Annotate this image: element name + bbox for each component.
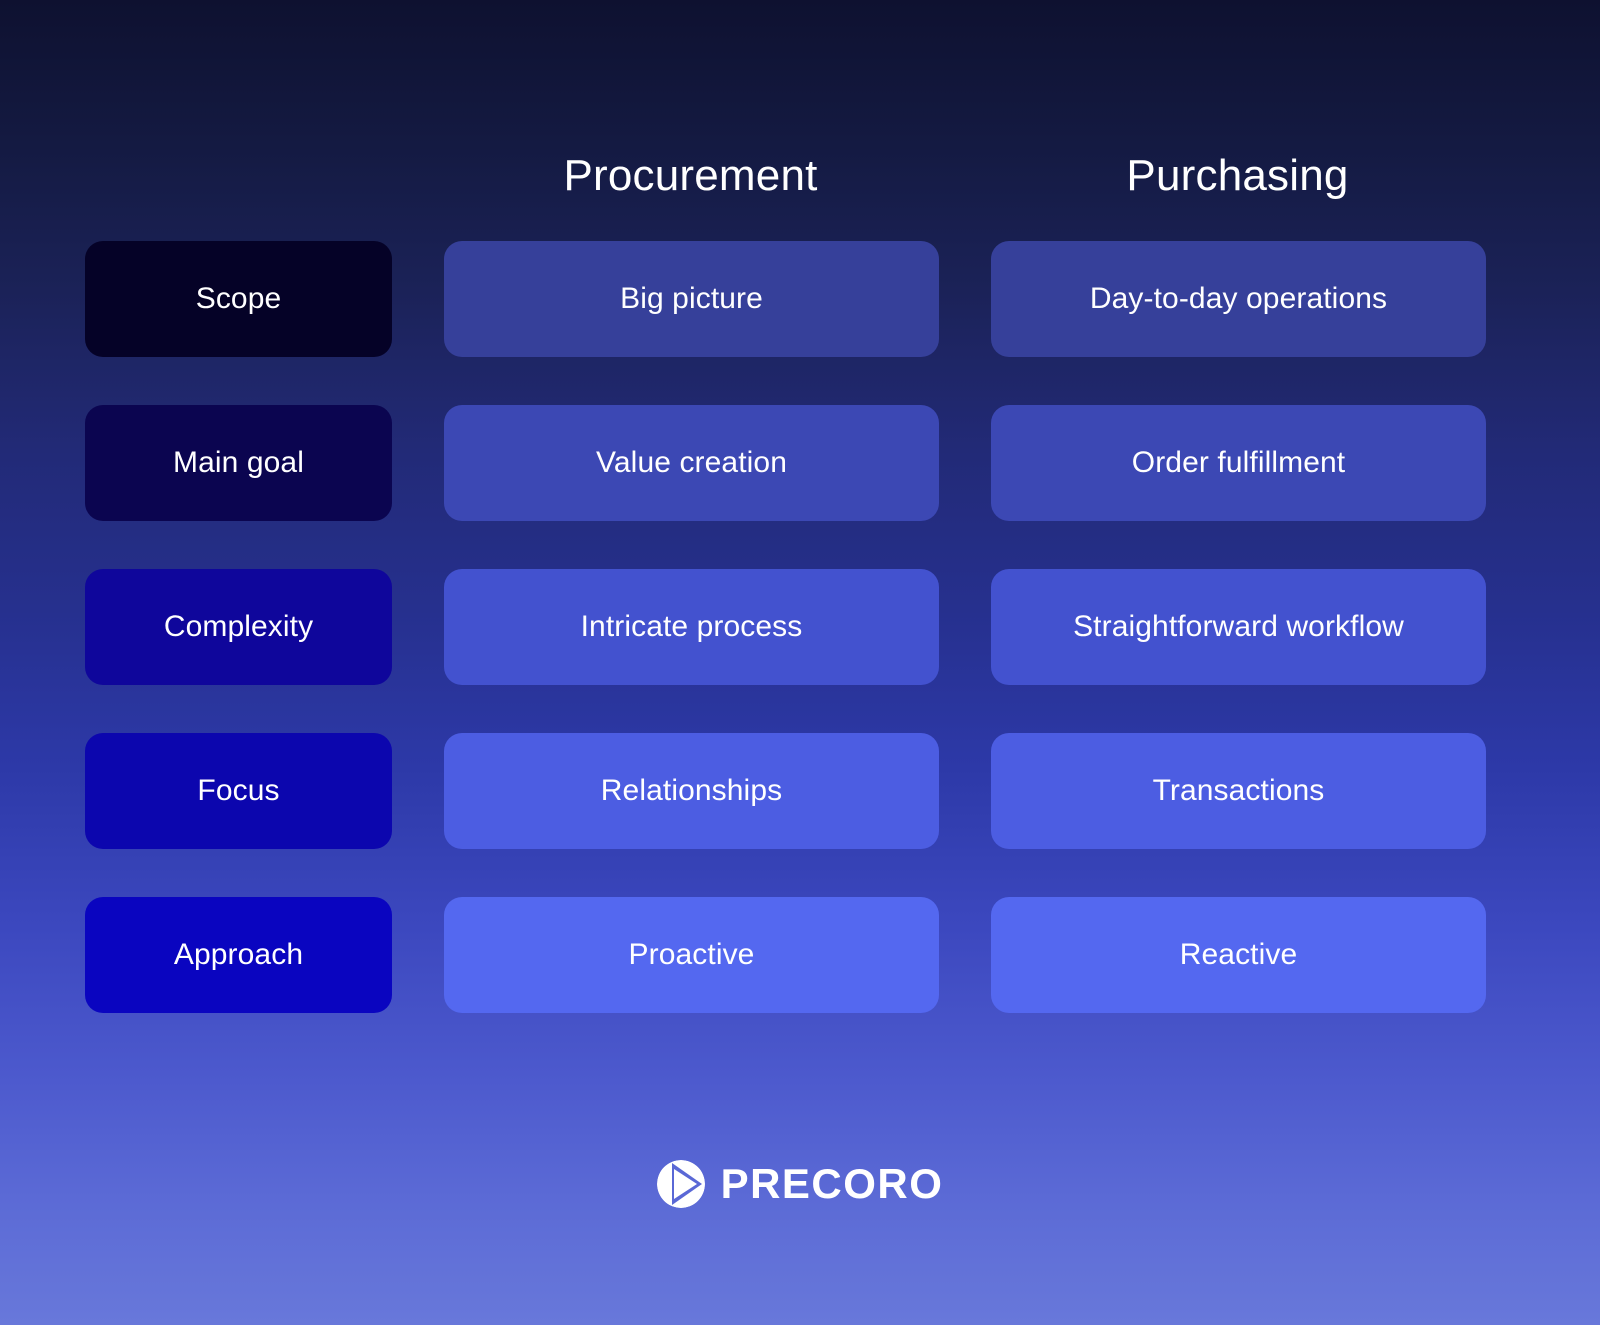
row-label-card[interactable]: Focus bbox=[85, 733, 392, 849]
procurement-value-card[interactable]: Intricate process bbox=[444, 569, 939, 685]
header-column-gap bbox=[938, 140, 990, 212]
comparison-rows: Scope Big picture Day-to-day operations … bbox=[0, 241, 1600, 1013]
purchasing-value-card[interactable]: Order fulfillment bbox=[991, 405, 1486, 521]
brand-footer: PRECORO bbox=[0, 1160, 1600, 1208]
purchasing-value-card[interactable]: Transactions bbox=[991, 733, 1486, 849]
procurement-value-card[interactable]: Relationships bbox=[444, 733, 939, 849]
header-procurement: Procurement bbox=[443, 140, 938, 212]
row-label-card[interactable]: Scope bbox=[85, 241, 392, 357]
procurement-value-card[interactable]: Value creation bbox=[444, 405, 939, 521]
column-headers: Procurement Purchasing bbox=[0, 140, 1600, 212]
purchasing-value-card[interactable]: Straightforward workflow bbox=[991, 569, 1486, 685]
brand-wordmark: PRECORO bbox=[721, 1163, 944, 1205]
row-label-card[interactable]: Main goal bbox=[85, 405, 392, 521]
procurement-value-card[interactable]: Big picture bbox=[444, 241, 939, 357]
table-row: Approach Proactive Reactive bbox=[0, 897, 1600, 1013]
table-row: Main goal Value creation Order fulfillme… bbox=[0, 405, 1600, 521]
purchasing-value-card[interactable]: Reactive bbox=[991, 897, 1486, 1013]
header-purchasing: Purchasing bbox=[990, 140, 1485, 212]
row-label-card[interactable]: Approach bbox=[85, 897, 392, 1013]
comparison-infographic: Procurement Purchasing Scope Big picture… bbox=[0, 0, 1600, 1325]
table-row: Focus Relationships Transactions bbox=[0, 733, 1600, 849]
row-label-card[interactable]: Complexity bbox=[85, 569, 392, 685]
header-spacer bbox=[0, 140, 443, 212]
precoro-play-circle-icon bbox=[657, 1160, 705, 1208]
procurement-value-card[interactable]: Proactive bbox=[444, 897, 939, 1013]
purchasing-value-card[interactable]: Day-to-day operations bbox=[991, 241, 1486, 357]
table-row: Complexity Intricate process Straightfor… bbox=[0, 569, 1600, 685]
table-row: Scope Big picture Day-to-day operations bbox=[0, 241, 1600, 357]
